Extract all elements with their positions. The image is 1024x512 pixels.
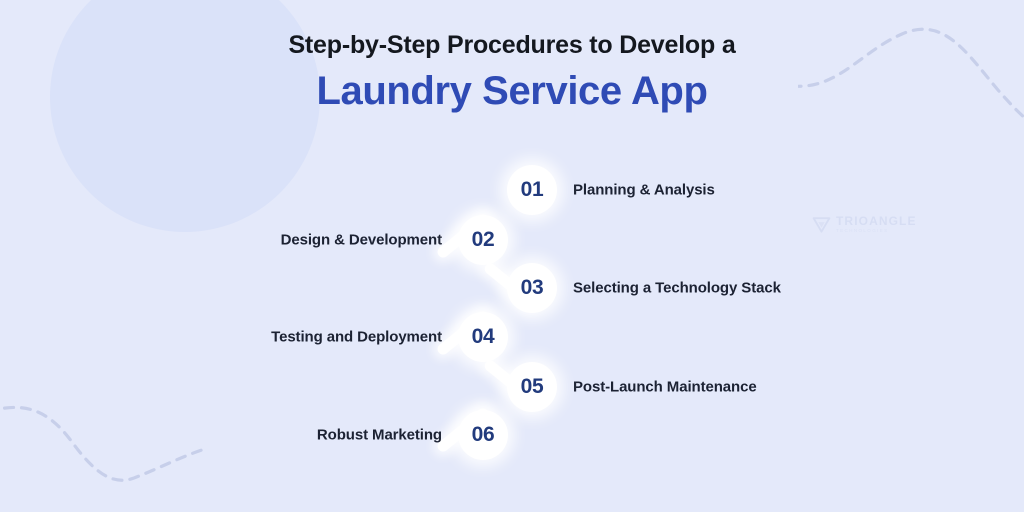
step-item-04[interactable]: 04 Testing and Deployment — [458, 312, 508, 362]
step-node-04: 04 — [458, 312, 508, 362]
step-number-05: 05 — [521, 375, 544, 399]
step-node-05: 05 — [507, 362, 557, 412]
step-node-01: 01 — [507, 165, 557, 215]
step-item-06[interactable]: 06 Robust Marketing — [458, 410, 508, 460]
step-number-01: 01 — [521, 178, 544, 202]
step-number-02: 02 — [472, 228, 495, 252]
step-number-04: 04 — [472, 325, 495, 349]
infographic-canvas: Step-by-Step Procedures to Develop a Lau… — [0, 0, 1024, 512]
steps-chain: 01 Planning & Analysis 02 Design & Devel… — [0, 0, 1024, 512]
step-label-01: Planning & Analysis — [573, 182, 715, 199]
step-number-03: 03 — [521, 276, 544, 300]
step-node-03: 03 — [507, 263, 557, 313]
step-item-03[interactable]: 03 Selecting a Technology Stack — [507, 263, 887, 313]
step-item-01[interactable]: 01 Planning & Analysis — [507, 165, 887, 215]
step-label-06: Robust Marketing — [317, 427, 442, 444]
step-item-02[interactable]: 02 Design & Development — [458, 215, 508, 265]
step-label-02: Design & Development — [281, 232, 442, 249]
step-label-03: Selecting a Technology Stack — [573, 280, 781, 297]
step-label-05: Post-Launch Maintenance — [573, 379, 757, 396]
step-number-06: 06 — [472, 423, 495, 447]
step-node-06: 06 — [458, 410, 508, 460]
step-node-02: 02 — [458, 215, 508, 265]
step-item-05[interactable]: 05 Post-Launch Maintenance — [507, 362, 887, 412]
step-label-04: Testing and Deployment — [271, 329, 442, 346]
